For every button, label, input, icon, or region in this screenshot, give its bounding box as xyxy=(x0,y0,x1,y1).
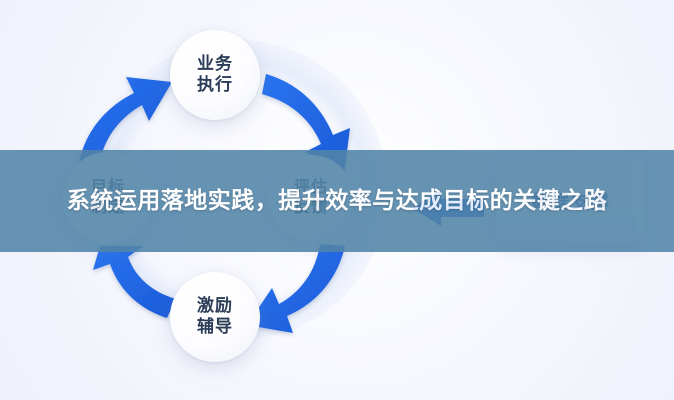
node-motivation-coaching[interactable]: 激励 辅导 xyxy=(170,272,260,362)
node-business-execution[interactable]: 业务 执行 xyxy=(170,30,260,120)
node-bottom-line1: 激励 xyxy=(197,296,233,317)
node-bottom-line2: 辅导 xyxy=(197,317,233,338)
page-title: 系统运用落地实践，提升效率与达成目标的关键之路 xyxy=(37,184,637,217)
node-top-line2: 执行 xyxy=(197,75,233,96)
banner-canvas: 业务 执行 评估 反馈 激励 辅导 目标 制定 数据支撑 系统运用落地实践，提升… xyxy=(0,0,674,400)
title-overlay-band: 系统运用落地实践，提升效率与达成目标的关键之路 xyxy=(0,150,674,252)
node-top-line1: 业务 xyxy=(197,54,233,75)
